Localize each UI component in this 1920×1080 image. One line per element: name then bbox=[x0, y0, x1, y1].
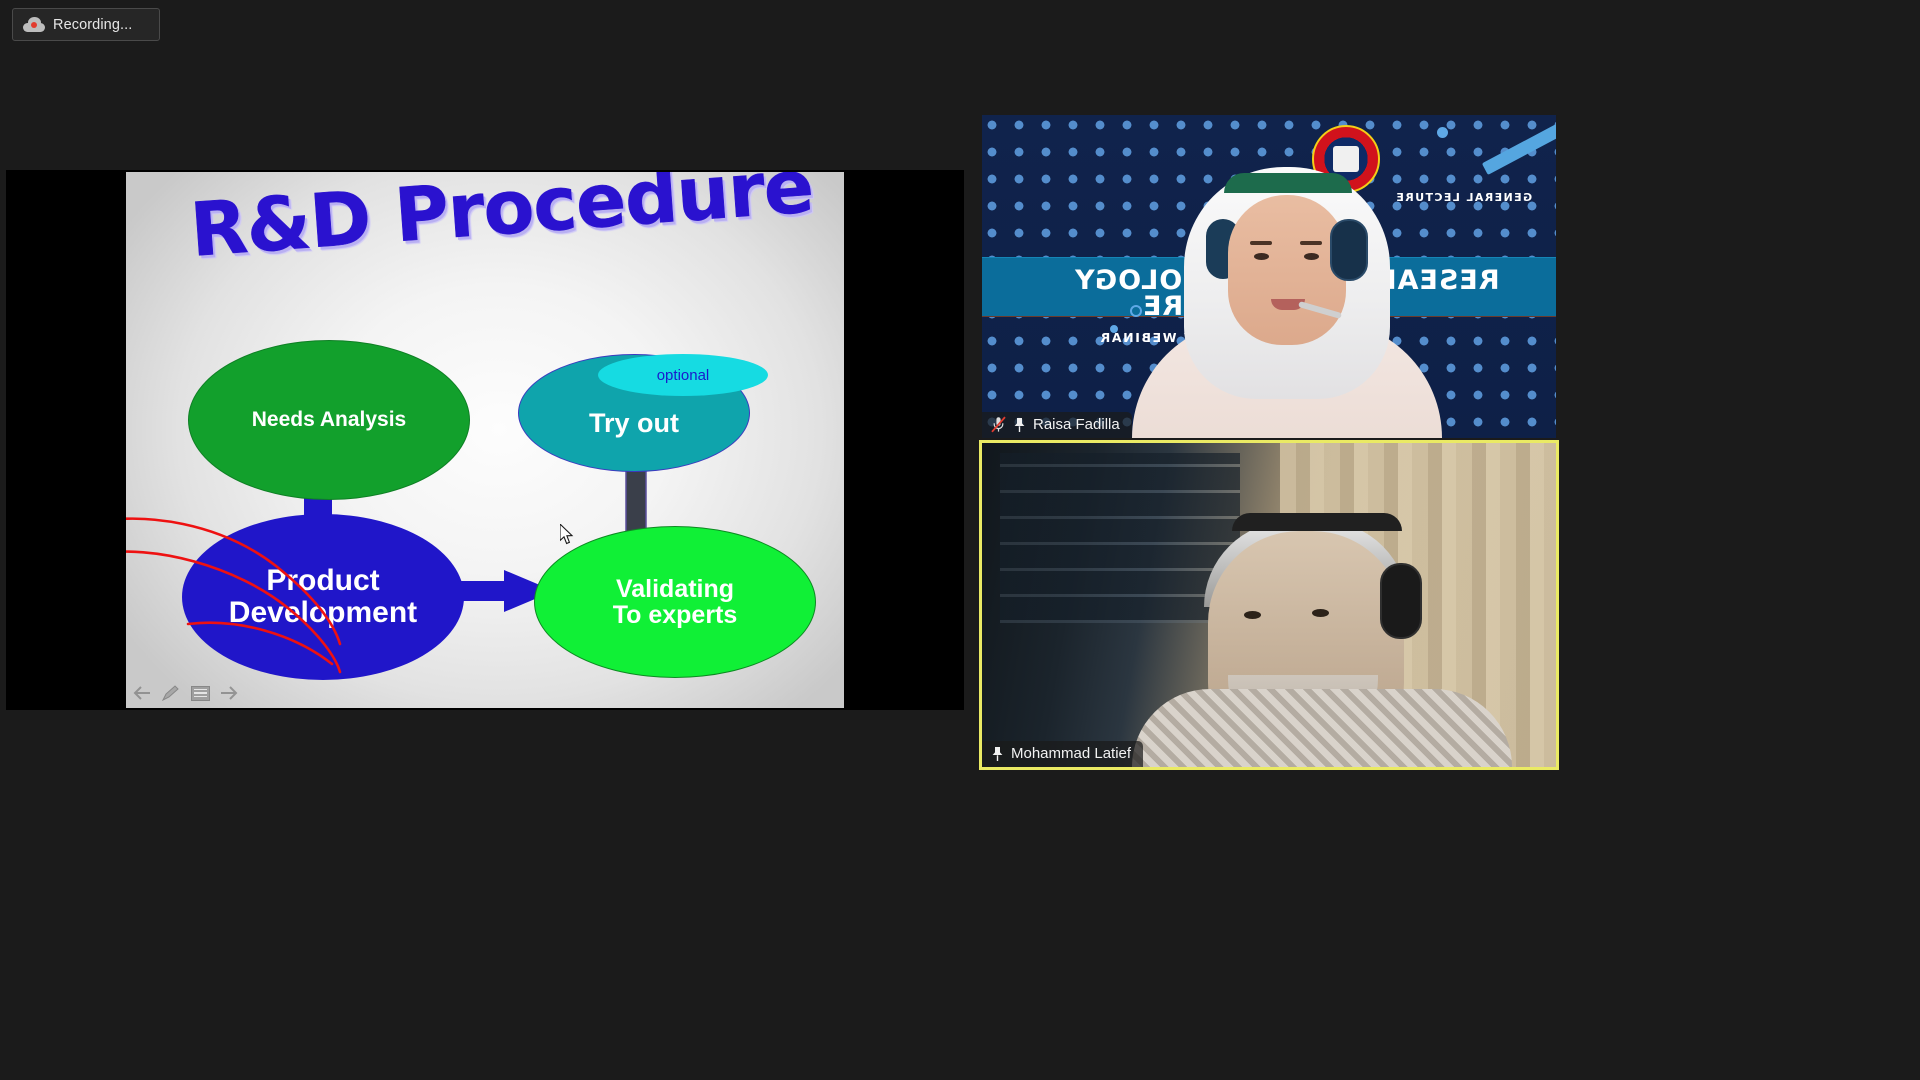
participant-tile-mohammad[interactable]: Mohammad Latief bbox=[979, 440, 1559, 770]
recording-cloud-icon bbox=[23, 17, 45, 32]
pin-icon bbox=[991, 746, 1004, 762]
recording-label: Recording... bbox=[53, 17, 132, 33]
slide-annotate-toolbar[interactable] bbox=[132, 684, 239, 702]
node-product-development-line2: Development bbox=[229, 597, 417, 629]
node-needs-analysis: Needs Analysis bbox=[188, 340, 470, 500]
node-needs-analysis-label: Needs Analysis bbox=[252, 409, 406, 431]
node-validating-line2: To experts bbox=[613, 602, 738, 629]
pin-icon bbox=[1013, 417, 1026, 433]
name-tag-raisa: Raisa Fadilla bbox=[982, 412, 1132, 438]
pen-icon[interactable] bbox=[161, 684, 181, 702]
badge-optional-label: optional bbox=[657, 367, 710, 384]
participant-tile-raisa[interactable]: GENERAL LECTURE RESEARCH METHODOLOGY IN … bbox=[982, 115, 1556, 438]
zoom-meeting-window: Recording... R&D Procedure Needs Analysi… bbox=[0, 0, 1920, 1080]
mic-muted-icon bbox=[991, 416, 1006, 433]
badge-optional: optional bbox=[598, 354, 768, 396]
shared-screen-stage[interactable]: R&D Procedure Needs Analysis Try out opt… bbox=[6, 170, 964, 710]
name-tag-mohammad: Mohammad Latief bbox=[982, 741, 1143, 767]
prev-slide-arrow-icon[interactable] bbox=[132, 684, 152, 702]
participant-video-mohammad bbox=[982, 443, 1556, 767]
mouse-pointer-icon bbox=[560, 524, 574, 545]
node-product-development: Product Development bbox=[182, 514, 464, 680]
slide-title: R&D Procedure bbox=[188, 172, 792, 268]
node-validating-to-experts: Validating To experts bbox=[534, 526, 816, 678]
next-slide-arrow-icon[interactable] bbox=[219, 684, 239, 702]
node-product-development-line1: Product bbox=[266, 565, 379, 597]
participant-name-mohammad: Mohammad Latief bbox=[1011, 745, 1131, 762]
node-validating-line1: Validating bbox=[616, 576, 734, 603]
list-icon[interactable] bbox=[190, 684, 210, 702]
node-try-out-label: Try out bbox=[589, 409, 679, 438]
recording-badge[interactable]: Recording... bbox=[12, 8, 160, 41]
decorative-dot-1 bbox=[1437, 127, 1448, 138]
decorative-bar bbox=[1482, 124, 1556, 175]
participant-name-raisa: Raisa Fadilla bbox=[1033, 416, 1120, 433]
presentation-slide[interactable]: R&D Procedure Needs Analysis Try out opt… bbox=[126, 172, 844, 708]
participant-video-raisa bbox=[1132, 167, 1442, 438]
